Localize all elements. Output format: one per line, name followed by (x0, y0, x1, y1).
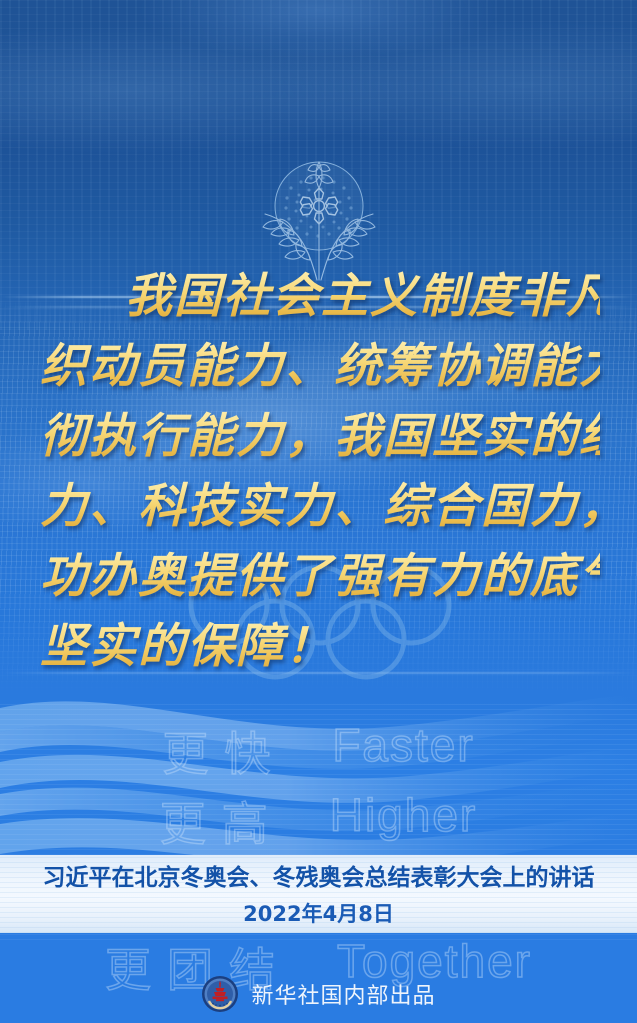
quote-line: 力、科技实力、综合国力，为成 (40, 472, 600, 542)
quote-block: 我国社会主义制度非凡的组 织动员能力、统筹协调能力、贯 彻执行能力，我国坚实的经… (40, 262, 600, 682)
quote-line: 功办奥提供了强有力的底气和最 (40, 542, 600, 612)
poster-root: 更快 Faster 更高 Higher 更强 Stronger 更团结 Toge… (0, 0, 637, 1023)
agency-label: 新华社国内部出品 (251, 978, 435, 1010)
caption-date: 2022年4月8日 (0, 898, 637, 928)
quote-line: 坚实的保障！ (40, 612, 600, 682)
quote-line: 织动员能力、统筹协调能力、贯 (40, 332, 600, 402)
quote-line: 彻执行能力，我国坚实的经济实 (40, 402, 600, 472)
caption-band: 习近平在北京冬奥会、冬残奥会总结表彰大会上的讲话 2022年4月8日 (0, 855, 637, 933)
xinhua-agency-logo-icon (201, 975, 239, 1013)
footer: 新华社国内部出品 (0, 965, 637, 1023)
quote-line: 我国社会主义制度非凡的组 (40, 262, 600, 332)
caption-title: 习近平在北京冬奥会、冬残奥会总结表彰大会上的讲话 (0, 858, 637, 892)
